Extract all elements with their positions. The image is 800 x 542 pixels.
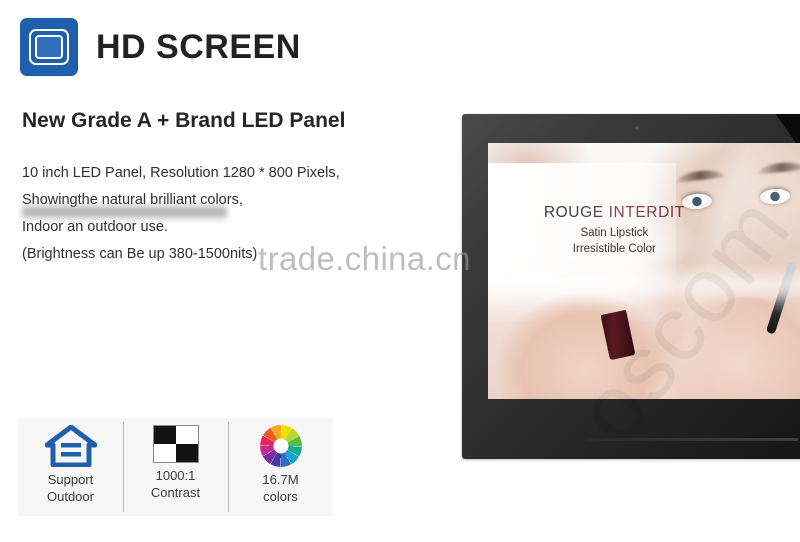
screen-icon — [20, 18, 78, 76]
bezel-speaker-slit — [588, 438, 798, 441]
feature-label-line1: 1000:1 — [156, 468, 196, 483]
feature-label-support-outdoor: Support Outdoor — [47, 471, 94, 505]
checker-cell-bl — [154, 444, 176, 462]
checkerboard-icon — [153, 425, 199, 463]
feature-support-outdoor: Support Outdoor — [18, 418, 123, 516]
device-screen: ROUGE INTERDIT Satin Lipstick Irresistib… — [488, 143, 800, 399]
feature-label-colors: 16.7M colors — [262, 471, 298, 505]
feature-label-line2: Contrast — [151, 485, 200, 500]
checker-cell-tl — [154, 426, 176, 444]
feature-label-line2: Outdoor — [47, 489, 94, 504]
house-icon — [45, 425, 97, 467]
feature-label-line2: colors — [263, 489, 298, 504]
product-display-device: ROUGE INTERDIT Satin Lipstick Irresistib… — [462, 114, 800, 459]
spec-line-brightness: (Brightness can Be up 380-1500nits) — [22, 241, 432, 268]
page-title: HD SCREEN — [96, 30, 301, 64]
spec-line-colors: Showingthe natural brilliant colors, — [22, 187, 432, 214]
model-hands — [488, 281, 800, 399]
spec-line-usage-wrapper: Indoor an outdoor use. — [22, 214, 432, 241]
color-wheel-icon — [260, 425, 302, 467]
feature-label-contrast: 1000:1 Contrast — [151, 467, 200, 501]
section-subtitle: New Grade A + Brand LED Panel — [22, 108, 432, 134]
spec-line-usage: Indoor an outdoor use. — [22, 219, 168, 235]
spec-line-resolution: 10 inch LED Panel, Resolution 1280 * 800… — [22, 160, 432, 187]
feature-colors: 16.7M colors — [228, 418, 333, 516]
screen-icon-inner-ring — [35, 35, 63, 59]
feature-label-line1: Support — [48, 472, 94, 487]
camera-dot — [635, 126, 639, 130]
checker-cell-br — [176, 444, 198, 462]
checker-cell-tr — [176, 426, 198, 444]
feature-label-line1: 16.7M — [262, 472, 298, 487]
feature-badges: Support Outdoor 1000:1 Contrast 16.7M co… — [18, 418, 333, 516]
page-header: HD SCREEN — [20, 18, 301, 76]
feature-contrast: 1000:1 Contrast — [123, 418, 228, 516]
description-block: New Grade A + Brand LED Panel 10 inch LE… — [22, 108, 432, 268]
color-wheel-spokes — [260, 425, 302, 467]
